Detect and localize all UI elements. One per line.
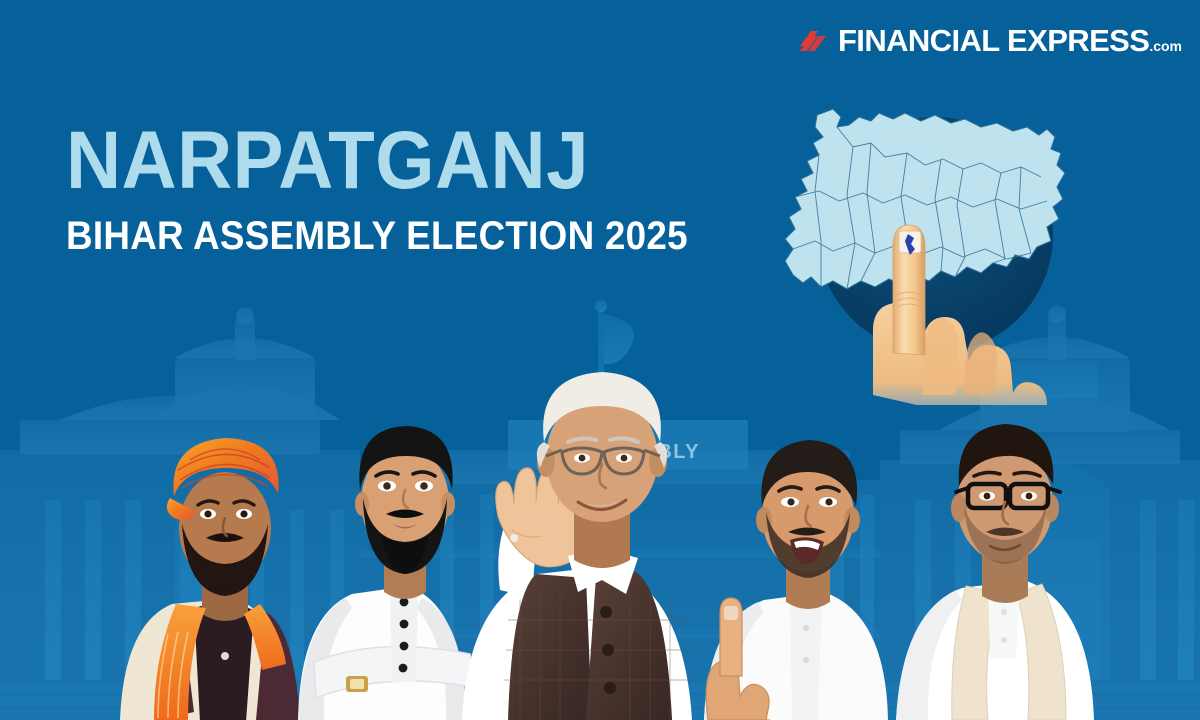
election-banner: ASSEMBLY [0, 0, 1200, 720]
bihar-map-voter-finger-badge [775, 95, 1075, 395]
leader-turban-saffron [110, 420, 340, 720]
financial-express-stripes-icon [798, 25, 828, 55]
leader-spectacled-shawl [880, 400, 1150, 720]
pointing-finger-hand [706, 598, 770, 720]
building-sign-text: ASSEMBLY [579, 441, 700, 463]
eyeglasses-icon [956, 484, 1060, 508]
leader-elder-waving-glasses [440, 320, 760, 720]
page-title: NARPATGANJ [66, 122, 736, 200]
leader-young-bearded-white-kurta [290, 390, 520, 720]
logo-brand-name: FINANCIAL EXPRESS [838, 23, 1149, 58]
eyeglasses-icon [546, 448, 660, 474]
site-logo[interactable]: FINANCIAL EXPRESS.com [798, 18, 1182, 62]
page-subtitle: BIHAR ASSEMBLY ELECTION 2025 [66, 216, 728, 256]
leader-speaking-pointing-finger [690, 420, 940, 720]
logo-tld: .com [1149, 38, 1182, 54]
waving-hand [496, 468, 584, 567]
headline-block: NARPATGANJ BIHAR ASSEMBLY ELECTION 2025 [66, 122, 786, 256]
logo-text: FINANCIAL EXPRESS.com [838, 25, 1182, 56]
